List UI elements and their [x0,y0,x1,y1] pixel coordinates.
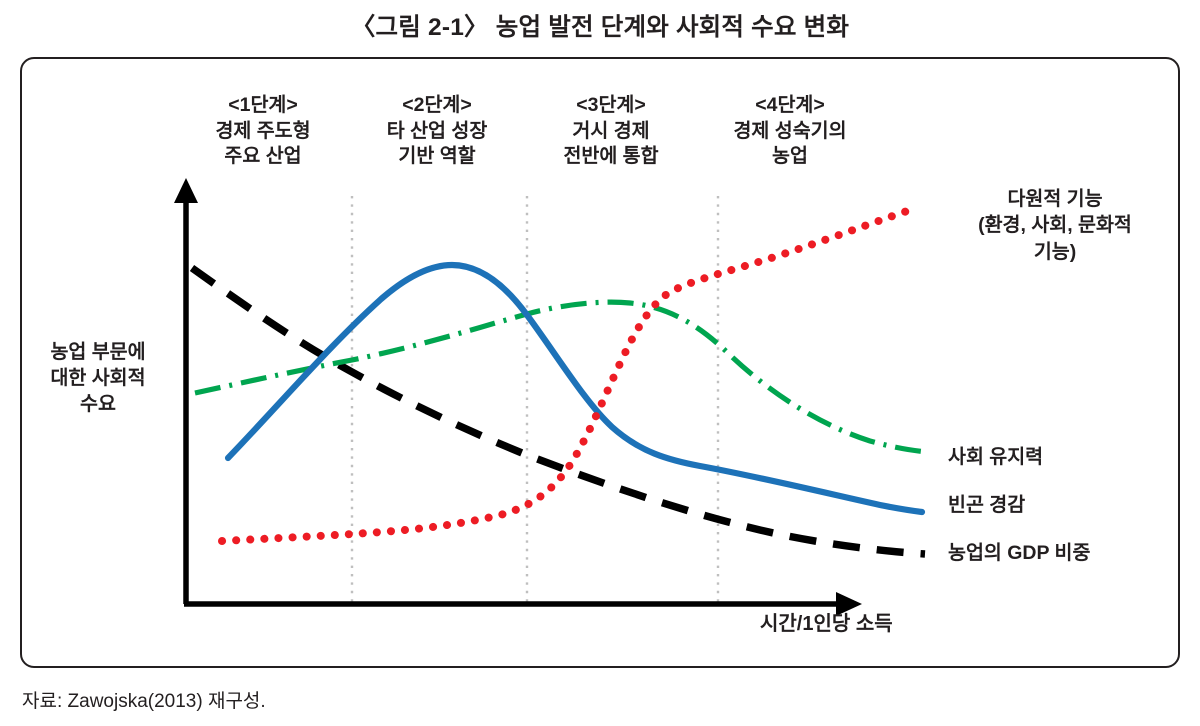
series-label-agri-gdp: 농업의 GDP 비중 [948,540,1090,566]
source-note: 자료: Zawojska(2013) 재구성. [22,686,266,713]
series-label-multifunctional: 다원적 기능 (환경, 사회, 문화적 기능) [930,186,1180,265]
stage-label-2: <2단계> 타 산업 성장 기반 역할 [352,93,522,170]
series-label-social-viability: 사회 유지력 [948,444,1043,470]
x-axis-label: 시간/1인당 소득 [760,607,893,636]
y-axis-label: 농업 부문에 대한 사회적 수요 [18,340,178,418]
stage-label-4: <4단계> 경제 성숙기의 농업 [700,93,880,170]
stage-label-3: <3단계> 거시 경제 전반에 통합 [527,93,695,170]
stage-label-1: <1단계> 경제 주도형 주요 산업 [178,93,348,170]
series-label-poverty-reduction: 빈곤 경감 [948,492,1025,518]
figure-page: 〈그림 2-1〉 농업 발전 단계와 사회적 수요 변화 <1단계> 경제 주도… [0,0,1200,726]
page-title: 〈그림 2-1〉 농업 발전 단계와 사회적 수요 변화 [0,8,1200,43]
